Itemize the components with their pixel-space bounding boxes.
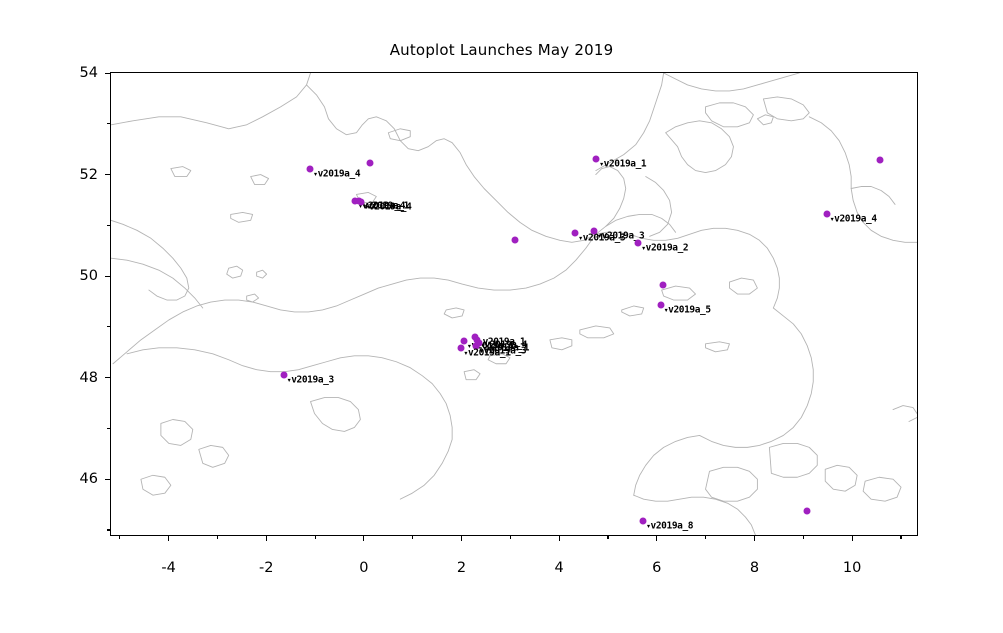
data-point-label: ▾v2019a_1 bbox=[464, 348, 511, 359]
x-axis-tick-label: 2 bbox=[457, 560, 466, 576]
x-axis-minor-tick bbox=[900, 536, 901, 539]
x-axis-tick-label: -4 bbox=[161, 560, 175, 576]
x-axis-minor-tick bbox=[315, 536, 316, 539]
data-point-label: ▾v2019a_1 bbox=[599, 159, 646, 170]
x-axis-minor-tick bbox=[607, 536, 608, 539]
x-axis-tick-label: -2 bbox=[259, 560, 273, 576]
y-axis-minor-tick bbox=[107, 123, 110, 124]
data-point-marker[interactable] bbox=[366, 160, 373, 167]
x-axis-minor-tick bbox=[803, 536, 804, 539]
x-axis-tick-label: 8 bbox=[750, 560, 759, 576]
data-point-label: ▾v2019a_5 bbox=[664, 305, 711, 316]
data-point-label: ▾v2019a_4 bbox=[830, 214, 877, 225]
coastlines-layer bbox=[111, 73, 917, 535]
x-axis-tick-label: 0 bbox=[359, 560, 368, 576]
data-point-marker[interactable] bbox=[512, 236, 519, 243]
x-axis-tick bbox=[754, 536, 755, 541]
map-axes bbox=[110, 72, 918, 536]
y-axis-minor-tick bbox=[107, 428, 110, 429]
data-point-marker[interactable] bbox=[804, 507, 811, 514]
y-axis-minor-tick bbox=[107, 326, 110, 327]
x-axis-tick bbox=[656, 536, 657, 541]
data-point-label: ▾v2019a_8 bbox=[646, 520, 693, 531]
x-axis-tick bbox=[168, 536, 169, 541]
x-axis-minor-tick bbox=[119, 536, 120, 539]
x-axis-tick bbox=[559, 536, 560, 541]
y-axis-tick-label: 52 bbox=[0, 167, 98, 183]
x-axis-tick-label: 10 bbox=[843, 560, 861, 576]
y-axis-tick-label: 46 bbox=[0, 471, 98, 487]
x-axis-tick bbox=[363, 536, 364, 541]
x-axis-minor-tick bbox=[510, 536, 511, 539]
figure-canvas: Autoplot Launches May 2019 bbox=[0, 0, 1003, 633]
data-point-label-text: v2019a_8 bbox=[651, 520, 694, 531]
data-point-label-text: v2019a_2 bbox=[646, 242, 689, 253]
x-axis-tick bbox=[461, 536, 462, 541]
x-axis-tick-label: 6 bbox=[652, 560, 661, 576]
y-axis-tick bbox=[105, 479, 110, 480]
x-axis-minor-tick bbox=[412, 536, 413, 539]
chart-title: Autoplot Launches May 2019 bbox=[0, 41, 1003, 59]
data-point-label-text: v2019a_4 bbox=[318, 169, 361, 180]
y-axis-tick-label: 54 bbox=[0, 65, 98, 81]
x-axis-tick bbox=[266, 536, 267, 541]
y-axis-tick bbox=[105, 174, 110, 175]
data-point-label-text: v2019a_5 bbox=[668, 305, 711, 316]
data-point-label-text: v2019a_1 bbox=[468, 348, 511, 359]
x-axis-minor-tick bbox=[705, 536, 706, 539]
data-point-label: ▾v2019a_3 bbox=[287, 375, 334, 386]
y-axis-tick-label: 48 bbox=[0, 370, 98, 386]
y-axis-tick bbox=[105, 377, 110, 378]
data-point-label-text: v2019a_4 bbox=[369, 201, 412, 212]
y-axis-tick bbox=[105, 276, 110, 277]
y-axis-tick bbox=[105, 73, 110, 74]
y-axis-minor-tick bbox=[107, 225, 110, 226]
data-point-marker[interactable] bbox=[877, 157, 884, 164]
x-axis-minor-tick bbox=[217, 536, 218, 539]
data-point-label-text: v2019a_4 bbox=[834, 214, 877, 225]
x-axis-tick bbox=[852, 536, 853, 541]
data-point-marker[interactable] bbox=[660, 282, 667, 289]
data-point-label: ▾v2019a_4 bbox=[364, 201, 411, 212]
y-axis-minor-tick bbox=[107, 529, 110, 530]
data-point-label-text: v2019a_1 bbox=[604, 159, 647, 170]
y-axis-tick-label: 50 bbox=[0, 268, 98, 284]
x-axis-tick-label: 4 bbox=[555, 560, 564, 576]
data-point-label: ▾v2019a_2 bbox=[641, 242, 688, 253]
data-point-label-text: v2019a_3 bbox=[291, 375, 334, 386]
data-point-label: ▾v2019a_4 bbox=[313, 169, 360, 180]
